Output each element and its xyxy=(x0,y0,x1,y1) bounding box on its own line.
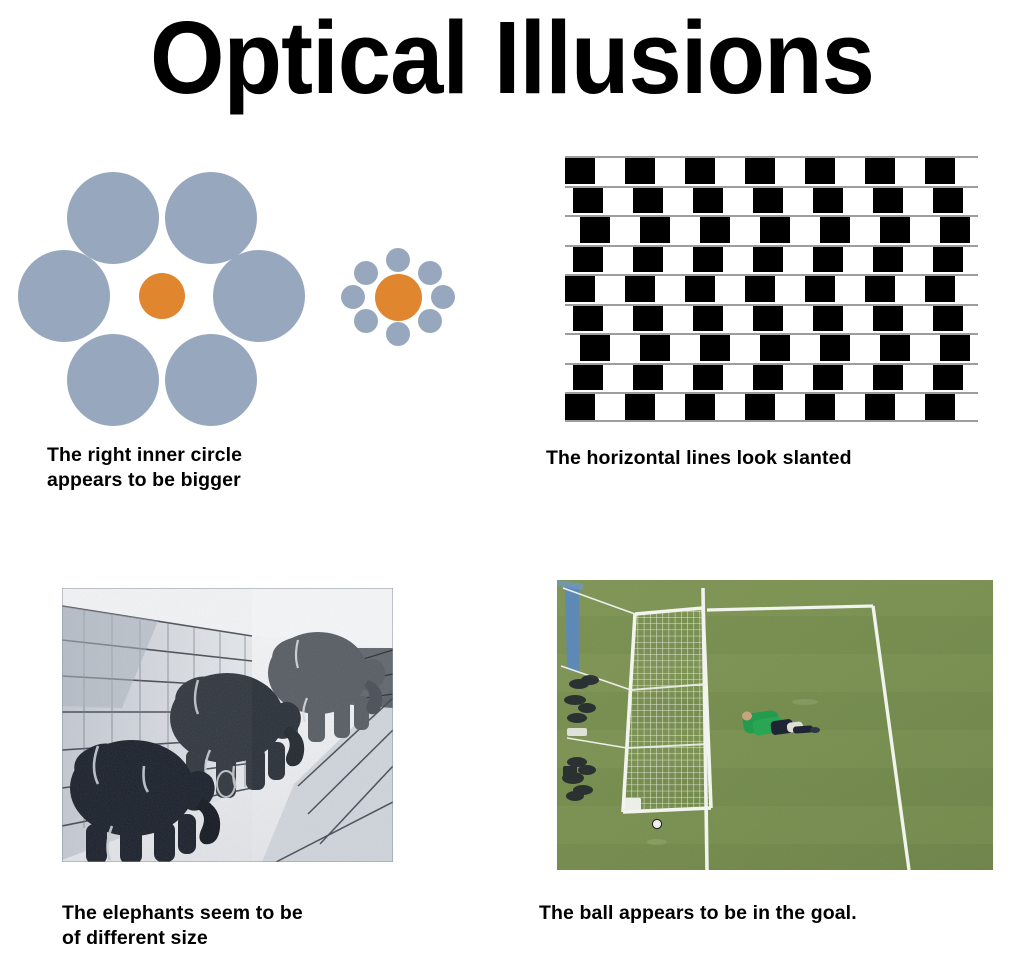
ebbinghaus-left-inner-circle xyxy=(139,273,185,319)
cafe-wall-tile-strip xyxy=(565,365,978,391)
cafe-wall-tile xyxy=(753,188,783,214)
caption-ebbinghaus: The right inner circle appears to be big… xyxy=(47,443,242,494)
soccer-goal-photo xyxy=(557,580,993,870)
cafe-wall-tile xyxy=(873,306,903,332)
cafe-wall-tile xyxy=(940,335,970,361)
cafe-wall-tile xyxy=(625,394,655,420)
cafe-wall-tile xyxy=(685,394,715,420)
cafe-wall-tile xyxy=(865,158,895,184)
ebbinghaus-right-surround-circle-1 xyxy=(418,261,442,285)
cafe-wall-tile xyxy=(760,217,790,243)
cafe-wall-tile xyxy=(565,394,595,420)
cafe-wall-row-5 xyxy=(565,304,978,334)
cafe-wall-tile-strip xyxy=(565,247,978,273)
cafe-wall-tile-strip xyxy=(565,276,978,302)
cafe-wall-tile xyxy=(933,306,963,332)
cafe-wall-tile xyxy=(805,394,835,420)
cafe-wall-tile xyxy=(573,365,603,391)
cafe-wall-tile xyxy=(813,306,843,332)
poster-root: Optical Illusions The right inner circle… xyxy=(0,0,1024,960)
cafe-wall-tile xyxy=(633,247,663,273)
cafe-wall-tile xyxy=(805,276,835,302)
cafe-wall-tile xyxy=(565,158,595,184)
photo-grain xyxy=(557,580,993,870)
cafe-wall-tile xyxy=(880,217,910,243)
cafe-wall-tile xyxy=(820,335,850,361)
cafe-wall-tile xyxy=(625,158,655,184)
cafe-wall-tile xyxy=(685,276,715,302)
cafe-wall-tile xyxy=(745,394,775,420)
cafe-wall-tile xyxy=(693,188,723,214)
cafe-wall-tile xyxy=(753,306,783,332)
ebbinghaus-left-surround-circle-3 xyxy=(213,250,305,342)
cafe-wall-tile xyxy=(745,158,775,184)
cafe-wall-tile xyxy=(865,276,895,302)
cafe-wall-row-0 xyxy=(565,156,978,186)
cafe-wall-row-6 xyxy=(565,333,978,363)
cafe-wall-tile xyxy=(933,365,963,391)
cafe-wall-tile xyxy=(753,365,783,391)
soccer-goal-image xyxy=(557,580,993,870)
page-title: Optical Illusions xyxy=(36,4,988,112)
cafe-wall-tile xyxy=(760,335,790,361)
mortar-line-top xyxy=(565,304,978,306)
mortar-line-top xyxy=(565,392,978,394)
cafe-wall-row-4 xyxy=(565,274,978,304)
mortar-line-top xyxy=(565,274,978,276)
ebbinghaus-left-surround-circle-0 xyxy=(67,172,159,264)
mortar-line-top xyxy=(565,215,978,217)
cafe-wall-tile xyxy=(625,276,655,302)
mortar-line-bottom xyxy=(565,420,978,422)
ebbinghaus-right-inner-circle xyxy=(375,274,422,321)
cafe-wall-tile xyxy=(573,306,603,332)
cafe-wall-tile xyxy=(805,158,835,184)
cafe-wall-tile xyxy=(700,217,730,243)
cafe-wall-tile-strip xyxy=(565,335,978,361)
cafe-wall-illusion-figure xyxy=(565,156,978,422)
ebbinghaus-right-surround-circle-2 xyxy=(431,285,455,309)
cafe-wall-row-2 xyxy=(565,215,978,245)
ebbinghaus-right-surround-circle-3 xyxy=(418,309,442,333)
ebbinghaus-left-surround-circle-1 xyxy=(165,172,257,264)
elephants-illustration xyxy=(62,588,393,862)
cafe-wall-tile xyxy=(813,247,843,273)
ebbinghaus-left-surround-circle-5 xyxy=(165,334,257,426)
cafe-wall-tile xyxy=(753,247,783,273)
ebbinghaus-left-surround-circle-4 xyxy=(67,334,159,426)
cafe-wall-tile xyxy=(865,394,895,420)
cafe-wall-tile xyxy=(580,217,610,243)
cafe-wall-tile xyxy=(873,188,903,214)
cafe-wall-tile xyxy=(565,276,595,302)
cafe-wall-tile-strip xyxy=(565,188,978,214)
cafe-wall-row-3 xyxy=(565,245,978,275)
cafe-wall-tile xyxy=(925,394,955,420)
cafe-wall-row-8 xyxy=(565,392,978,422)
caption-goal: The ball appears to be in the goal. xyxy=(539,901,857,926)
cafe-wall-tile xyxy=(873,365,903,391)
cafe-wall-tile-strip xyxy=(565,217,978,243)
cafe-wall-tile xyxy=(640,217,670,243)
cafe-wall-tile xyxy=(933,247,963,273)
cafe-wall-tile xyxy=(925,158,955,184)
elephants-corridor-image xyxy=(62,588,393,862)
caption-cafe-wall: The horizontal lines look slanted xyxy=(546,446,852,471)
mortar-line-top xyxy=(565,186,978,188)
cafe-wall-tile xyxy=(580,335,610,361)
ebbinghaus-left-surround-circle-2 xyxy=(18,250,110,342)
cafe-wall-tile xyxy=(940,217,970,243)
cafe-wall-tile xyxy=(745,276,775,302)
cafe-wall-tile xyxy=(573,247,603,273)
cafe-wall-tile xyxy=(933,188,963,214)
cafe-wall-tile xyxy=(693,247,723,273)
cafe-wall-tile xyxy=(685,158,715,184)
mortar-line-top xyxy=(565,363,978,365)
ebbinghaus-right-surround-circle-0 xyxy=(386,248,410,272)
cafe-wall-tile xyxy=(813,188,843,214)
ebbinghaus-right-surround-circle-5 xyxy=(354,309,378,333)
ebbinghaus-illusion-figure xyxy=(0,150,470,440)
ebbinghaus-right-surround-circle-6 xyxy=(341,285,365,309)
cafe-wall-tile-strip xyxy=(565,394,978,420)
cafe-wall-tile xyxy=(633,306,663,332)
ebbinghaus-right-surround-circle-7 xyxy=(354,261,378,285)
cafe-wall-tile-strip xyxy=(565,306,978,332)
cafe-wall-row-7 xyxy=(565,363,978,393)
ebbinghaus-right-surround-circle-4 xyxy=(386,322,410,346)
cafe-wall-row-1 xyxy=(565,186,978,216)
cafe-wall-tile xyxy=(640,335,670,361)
cafe-wall-tile xyxy=(633,365,663,391)
caption-elephants: The elephants seem to be of different si… xyxy=(62,901,303,952)
mortar-line-top xyxy=(565,333,978,335)
cafe-wall-tile xyxy=(700,335,730,361)
cafe-wall-tile xyxy=(925,276,955,302)
cafe-wall-tile xyxy=(880,335,910,361)
cafe-wall-tile xyxy=(573,188,603,214)
cafe-wall-tile xyxy=(820,217,850,243)
cafe-wall-tile xyxy=(633,188,663,214)
mortar-line-top xyxy=(565,156,978,158)
cafe-wall-tile xyxy=(693,365,723,391)
cafe-wall-tile-strip xyxy=(565,158,978,184)
cafe-wall-tile xyxy=(813,365,843,391)
mortar-line-top xyxy=(565,245,978,247)
cafe-wall-tile xyxy=(693,306,723,332)
cafe-wall-tile xyxy=(873,247,903,273)
